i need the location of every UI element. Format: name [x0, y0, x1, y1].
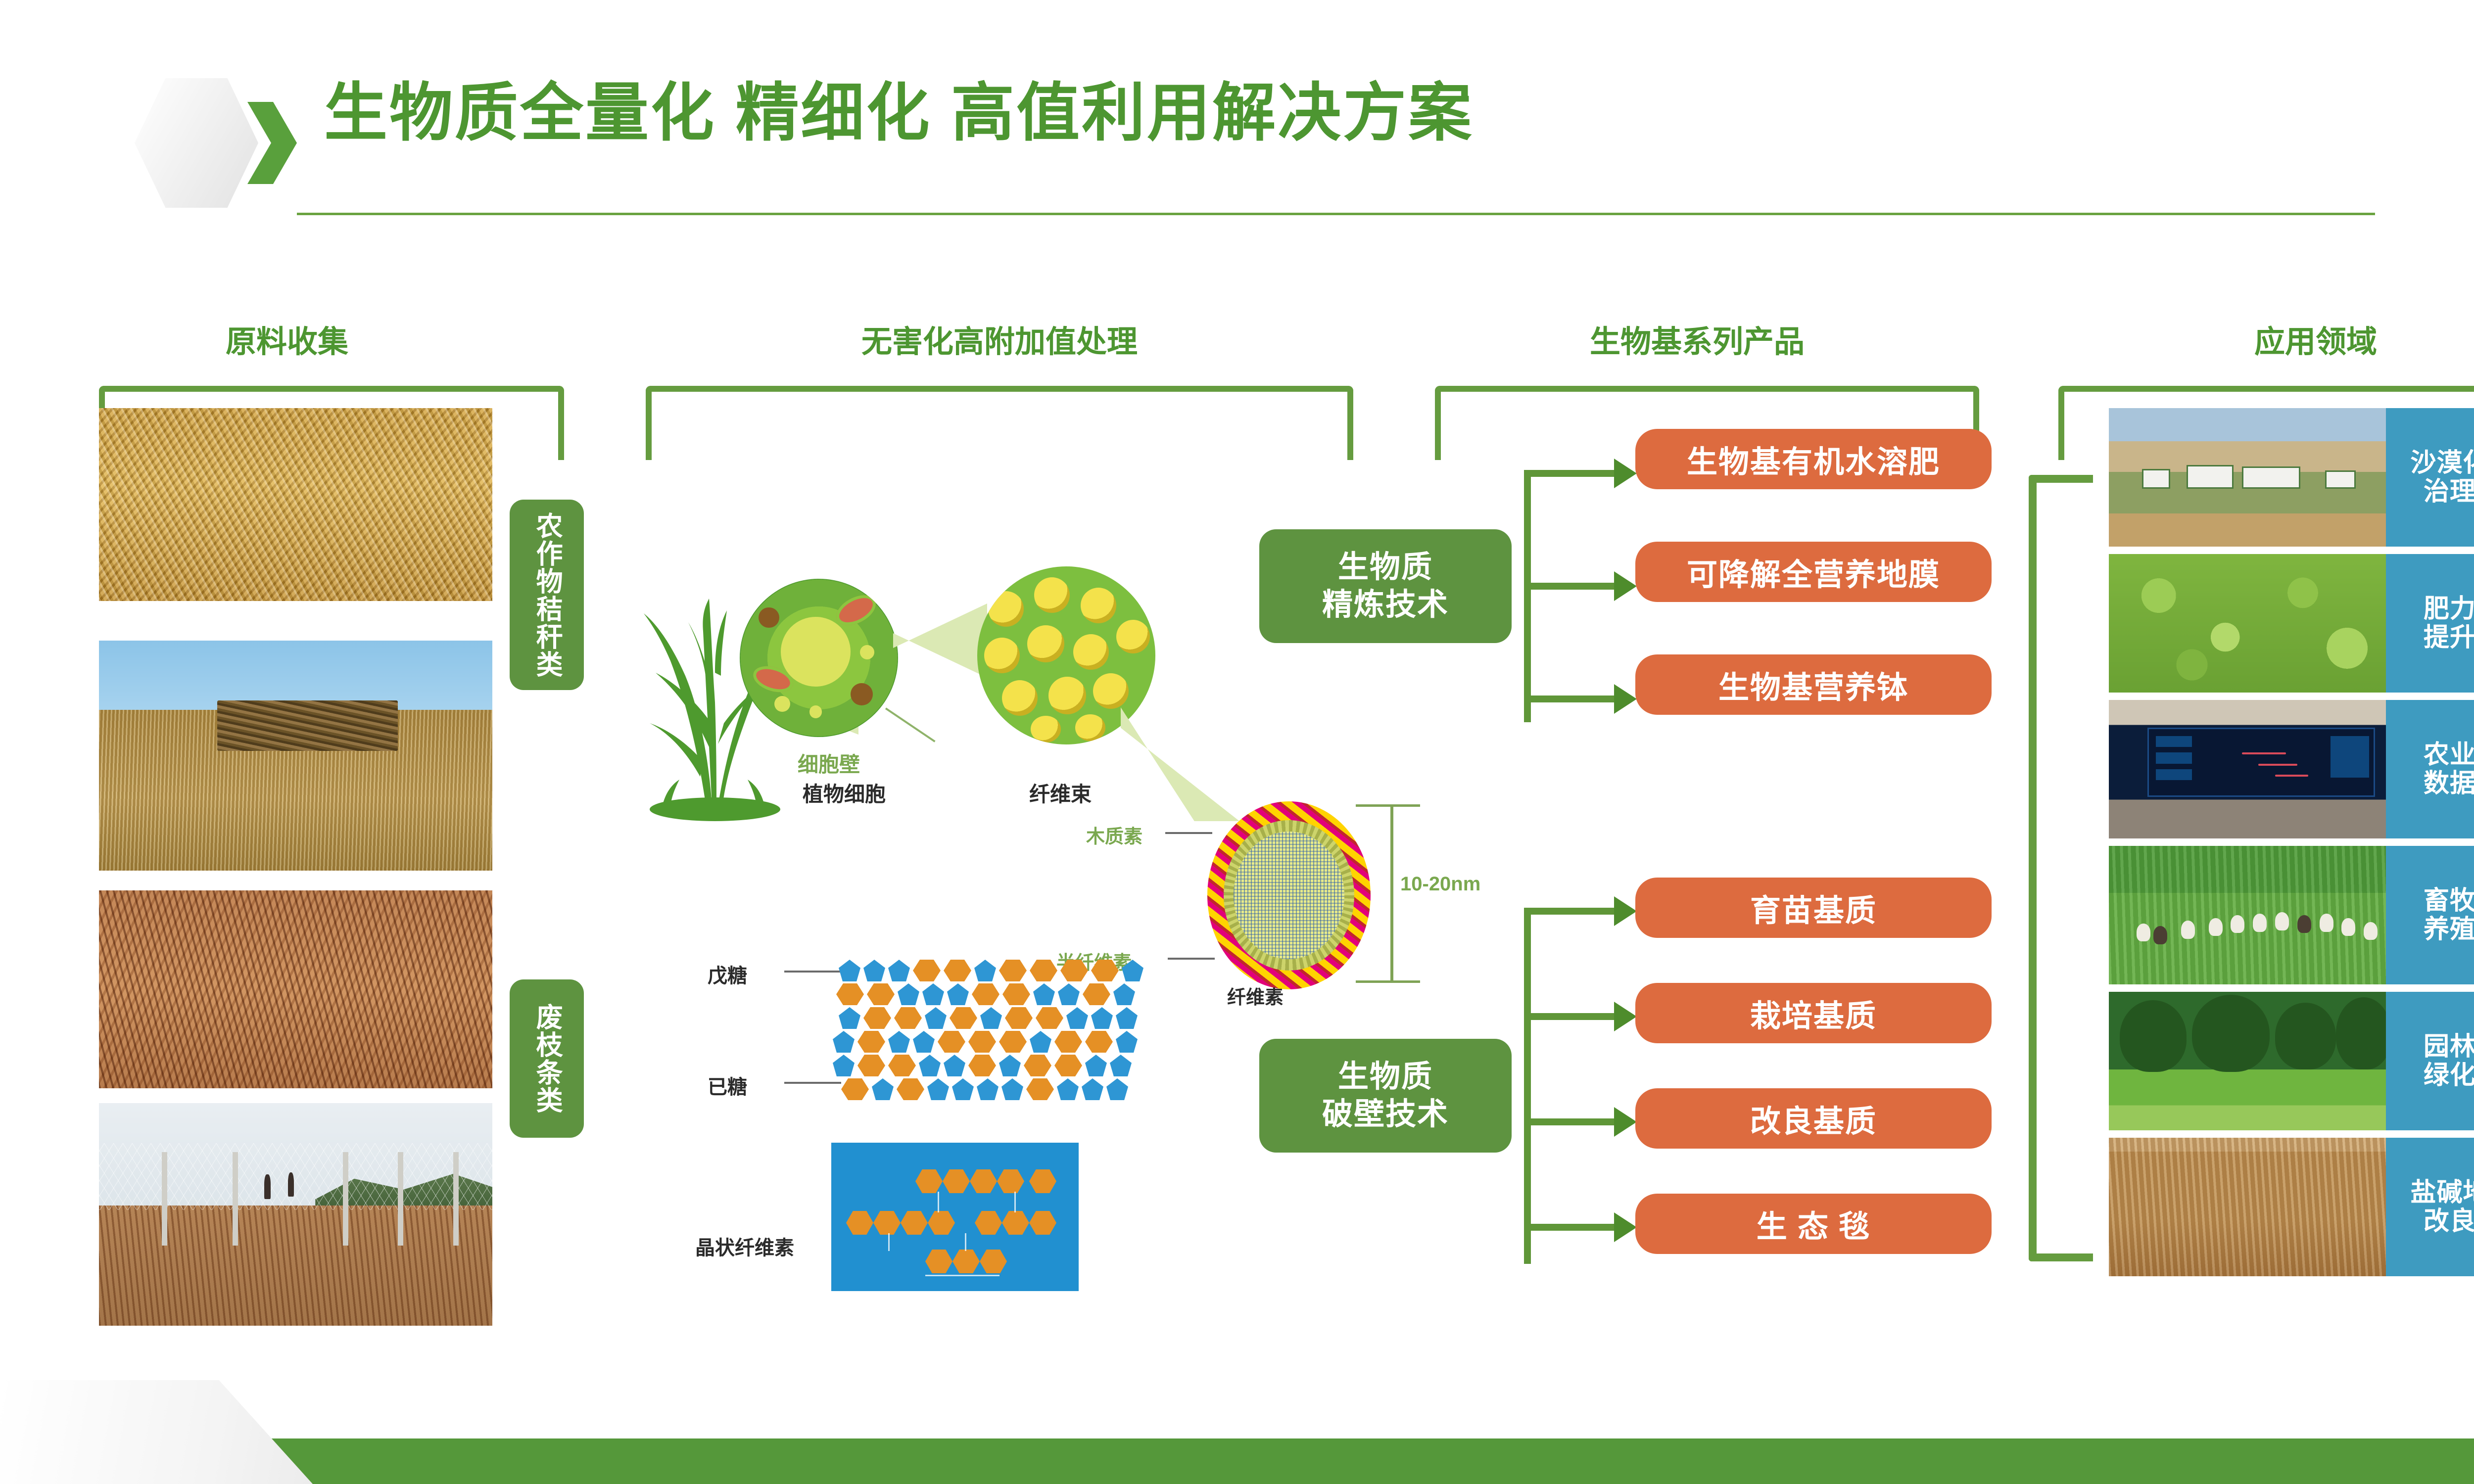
desert-restoration-photo	[2109, 408, 2386, 547]
application-row-1[interactable]: 肥力 提升	[2109, 554, 2474, 693]
application-0-line1: 沙漠化	[2410, 449, 2474, 477]
wall-breaking-tech-line1: 生物质	[1322, 1058, 1449, 1096]
product-box-0[interactable]: 生物基有机水溶肥	[1635, 429, 1992, 489]
pentose-label: 戊糖	[708, 960, 747, 988]
plant-cell-label: 植物细胞	[803, 778, 886, 808]
product-box-1[interactable]: 可降解全营养地膜	[1635, 542, 1992, 602]
fiber-cross-section	[1207, 801, 1371, 989]
straw-bale-field-photo	[99, 641, 492, 871]
application-row-4[interactable]: 园林 绿化	[2109, 992, 2474, 1130]
scale-dimension-bar	[1390, 804, 1393, 982]
bracket-processing	[646, 386, 1353, 460]
refining-tech-line2: 精炼技术	[1322, 586, 1449, 624]
application-label-1: 肥力 提升	[2386, 554, 2474, 693]
magnify-cone-fiber	[893, 603, 987, 678]
application-label-0: 沙漠化 治理	[2386, 408, 2474, 547]
application-1-line2: 提升	[2424, 623, 2474, 652]
plant-cell-illustration	[740, 579, 898, 737]
crop-straw-category-label: 农作物秸秆类	[533, 512, 561, 678]
application-row-5[interactable]: 盐碱地 改良	[2109, 1138, 2474, 1276]
hexose-label: 已糖	[708, 1071, 747, 1100]
biomass-wall-breaking-tech-box[interactable]: 生物质 破壁技术	[1259, 1039, 1512, 1153]
column-header-processing: 无害化高附加值处理	[703, 317, 1296, 361]
footer-bar	[0, 1438, 2474, 1484]
application-2-line1: 农业	[2424, 741, 2474, 769]
vineyard-pruning-photo	[99, 1103, 492, 1326]
wall-breaking-tech-line2: 破壁技术	[1322, 1096, 1449, 1133]
application-5-line1: 盐碱地	[2410, 1178, 2474, 1207]
cellulose-label: 纤维素	[1227, 982, 1284, 1009]
data-control-room-photo	[2109, 700, 2386, 838]
product-box-6[interactable]: 生 态 毯	[1635, 1194, 1992, 1254]
crystalline-cellulose-label: 晶状纤维素	[695, 1232, 794, 1260]
hemicellulose-leader-line	[1168, 958, 1215, 960]
scale-label: 10-20nm	[1400, 873, 1480, 895]
crystalline-cellulose-panel	[831, 1143, 1079, 1291]
cell-wall-label: 细胞壁	[798, 748, 860, 778]
application-3-line1: 畜牧	[2424, 886, 2474, 915]
crop-straw-category: 农作物秸秆类	[510, 500, 584, 690]
bracket-products-to-applications	[2029, 475, 2093, 1261]
application-row-0[interactable]: 沙漠化 治理	[2109, 408, 2474, 547]
biomass-refining-tech-box[interactable]: 生物质 精炼技术	[1259, 529, 1512, 643]
application-1-line1: 肥力	[2424, 595, 2474, 623]
scale-tick-top	[1356, 804, 1420, 807]
cell-wall-leader-line	[885, 707, 936, 742]
application-0-line2: 治理	[2410, 477, 2474, 506]
application-row-3[interactable]: 畜牧 养殖	[2109, 846, 2474, 984]
title-divider	[297, 213, 2375, 215]
application-label-2: 农业 数据	[2386, 700, 2474, 838]
saline-soil-photo	[2109, 1138, 2386, 1276]
waste-branch-category-label: 废枝条类	[533, 1003, 561, 1114]
application-4-line2: 绿化	[2424, 1061, 2474, 1090]
lignin-leader-line	[1165, 832, 1212, 834]
page-title: 生物质全量化 精细化 高值利用解决方案	[324, 82, 1474, 145]
column-header-applications: 应用领域	[2093, 317, 2474, 361]
pruned-branches-photo	[99, 890, 492, 1088]
cabbage-field-photo	[2109, 554, 2386, 693]
grazing-sheep-photo	[2109, 846, 2386, 984]
application-2-line2: 数据	[2424, 769, 2474, 798]
waste-branch-category: 废枝条类	[510, 979, 584, 1138]
application-label-5: 盐碱地 改良	[2386, 1138, 2474, 1276]
refining-tech-line1: 生物质	[1322, 549, 1449, 586]
product-box-4[interactable]: 栽培基质	[1635, 983, 1992, 1043]
application-4-line1: 园林	[2424, 1032, 2474, 1061]
hexagon-logo-icon	[135, 78, 258, 208]
park-greenery-photo	[2109, 992, 2386, 1130]
column-header-raw-material: 原料收集	[114, 317, 460, 361]
pentose-leader-line	[784, 971, 841, 973]
fiber-bundle-illustration	[977, 566, 1155, 744]
product-box-2[interactable]: 生物基营养钵	[1635, 654, 1992, 715]
column-header-products: 生物基系列产品	[1400, 317, 1994, 361]
application-row-2[interactable]: 农业 数据	[2109, 700, 2474, 838]
page-header: 生物质全量化 精细化 高值利用解决方案	[0, 0, 2474, 237]
fiber-bundle-label: 纤维束	[1029, 778, 1092, 808]
application-label-3: 畜牧 养殖	[2386, 846, 2474, 984]
product-box-3[interactable]: 育苗基质	[1635, 878, 1992, 938]
corn-stover-photo	[99, 408, 492, 601]
application-3-line2: 养殖	[2424, 915, 2474, 944]
scale-tick-bottom	[1356, 980, 1420, 983]
application-label-4: 园林 绿化	[2386, 992, 2474, 1130]
lignin-label: 木质素	[1086, 821, 1142, 848]
hexose-leader-line	[784, 1082, 841, 1084]
application-5-line2: 改良	[2410, 1207, 2474, 1236]
product-box-5[interactable]: 改良基质	[1635, 1088, 1992, 1149]
magnify-cone-crosssection	[1121, 707, 1239, 821]
